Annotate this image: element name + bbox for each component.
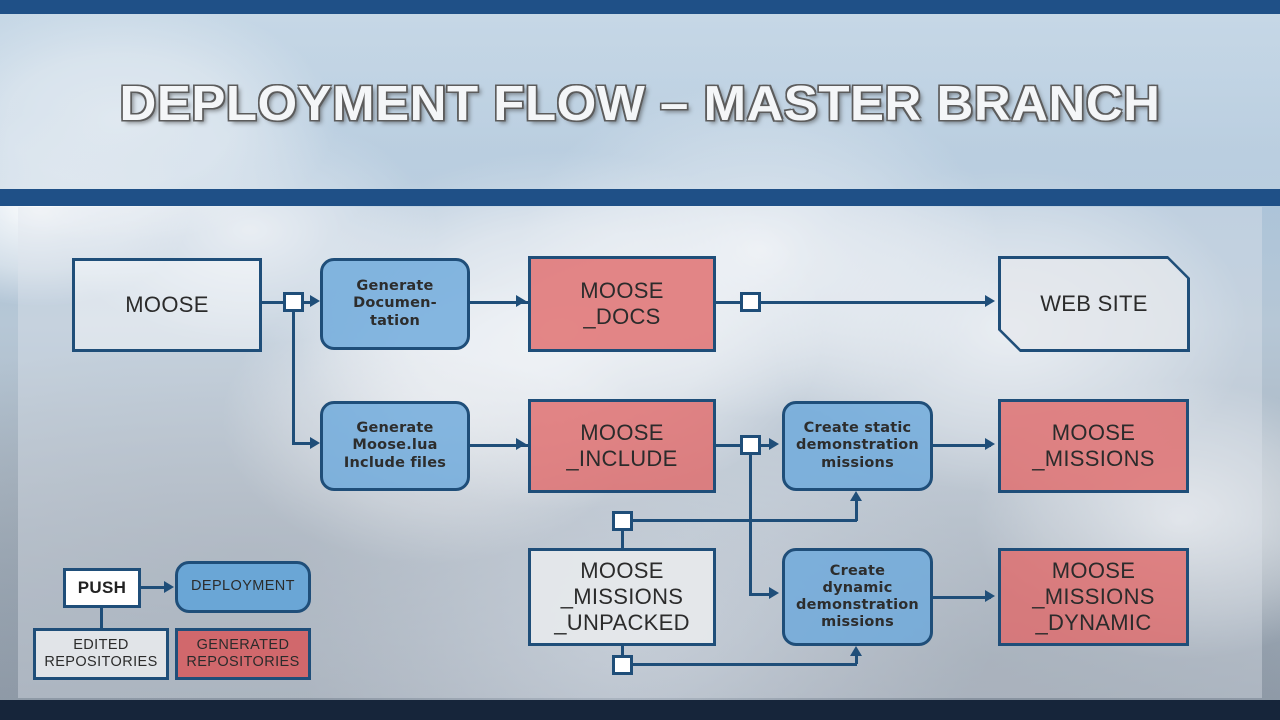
node-generate-documentation[interactable]: Generate Documen- tation (320, 258, 470, 350)
node-create-dynamic[interactable]: Create dynamic demonstration missions (782, 548, 933, 646)
connector-junction5-right (632, 663, 857, 666)
node-moose-docs[interactable]: MOOSE _DOCS (528, 256, 716, 352)
arrowhead-to-web-site (985, 295, 995, 307)
arrowhead-to-generate-include (310, 437, 320, 449)
slide-root: DEPLOYMENT FLOW – MASTER BRANCH MOOSE Ge… (0, 0, 1280, 720)
junction-1[interactable] (283, 292, 304, 312)
node-moose-missions-label: MOOSE _MISSIONS (1032, 420, 1155, 472)
legend-push-label: PUSH (78, 578, 126, 598)
arrowhead-to-create-static-bottom (850, 491, 862, 501)
arrowhead-to-moose-missions (985, 438, 995, 450)
node-moose-include-label: MOOSE _INCLUDE (566, 420, 677, 472)
junction-5[interactable] (612, 655, 633, 675)
node-moose-docs-label: MOOSE _DOCS (580, 278, 663, 330)
node-generate-include[interactable]: Generate Moose.lua Include files (320, 401, 470, 491)
arrowhead-to-create-static (769, 438, 779, 450)
arrowhead-to-moose-missions-dynamic (985, 590, 995, 602)
bottom-accent-band (0, 700, 1280, 720)
arrowhead-legend-deployment (164, 581, 174, 593)
node-generate-documentation-label: Generate Documen- tation (353, 278, 437, 329)
node-moose-missions-dynamic[interactable]: MOOSE _MISSIONS _DYNAMIC (998, 548, 1189, 646)
connector-mooseinclude-to-junction3 (716, 444, 742, 447)
connector-push-to-edited (100, 608, 103, 629)
node-moose-missions-unpacked-label: MOOSE _MISSIONS _UNPACKED (554, 558, 690, 636)
connector-moosedocs-to-junction2 (716, 301, 742, 304)
node-moose-missions-unpacked[interactable]: MOOSE _MISSIONS _UNPACKED (528, 548, 716, 646)
arrowhead-to-create-dynamic-bottom (850, 646, 862, 656)
node-moose-missions[interactable]: MOOSE _MISSIONS (998, 399, 1189, 493)
arrowhead-to-moose-include (516, 438, 526, 450)
legend-generated-repositories-label: GENERATED REPOSITORIES (186, 637, 299, 671)
node-moose-include[interactable]: MOOSE _INCLUDE (528, 399, 716, 493)
connector-junction4-up (855, 501, 858, 521)
node-web-site[interactable]: WEB SITE (998, 256, 1190, 352)
junction-2[interactable] (740, 292, 761, 312)
connector-createdynamic-to-moosemissionsdynamic (933, 596, 991, 599)
connector-junction4-right (632, 519, 857, 522)
legend-edited-repositories[interactable]: EDITED REPOSITORIES (33, 628, 169, 680)
connector-junction1-down (292, 311, 295, 444)
node-create-static-label: Create static demonstration missions (796, 420, 919, 471)
top-accent-band (0, 0, 1280, 14)
connector-createstatic-to-moosemissions (933, 444, 991, 447)
node-create-dynamic-label: Create dynamic demonstration missions (796, 563, 919, 631)
legend-deployment-label: DEPLOYMENT (191, 578, 295, 595)
node-create-static[interactable]: Create static demonstration missions (782, 401, 933, 491)
legend-generated-repositories[interactable]: GENERATED REPOSITORIES (175, 628, 311, 680)
arrowhead-to-moose-docs (516, 295, 526, 307)
junction-4[interactable] (612, 511, 633, 531)
page-title: DEPLOYMENT FLOW – MASTER BRANCH (0, 76, 1280, 132)
node-moose[interactable]: MOOSE (72, 258, 262, 352)
legend-deployment[interactable]: DEPLOYMENT (175, 561, 311, 613)
connector-junction5-up (855, 656, 858, 664)
header-accent-band (0, 189, 1280, 206)
arrowhead-to-create-dynamic (769, 587, 779, 599)
node-generate-include-label: Generate Moose.lua Include files (344, 420, 446, 471)
arrowhead-to-generate-documentation (310, 295, 320, 307)
legend-edited-repositories-label: EDITED REPOSITORIES (44, 637, 157, 671)
node-moose-label: MOOSE (125, 292, 208, 318)
node-moose-missions-dynamic-label: MOOSE _MISSIONS _DYNAMIC (1032, 558, 1155, 636)
node-web-site-label: WEB SITE (1040, 291, 1148, 317)
connector-junction2-to-website (760, 301, 988, 304)
legend-push[interactable]: PUSH (63, 568, 141, 608)
junction-3[interactable] (740, 435, 761, 455)
connector-junction3-down (749, 454, 752, 595)
